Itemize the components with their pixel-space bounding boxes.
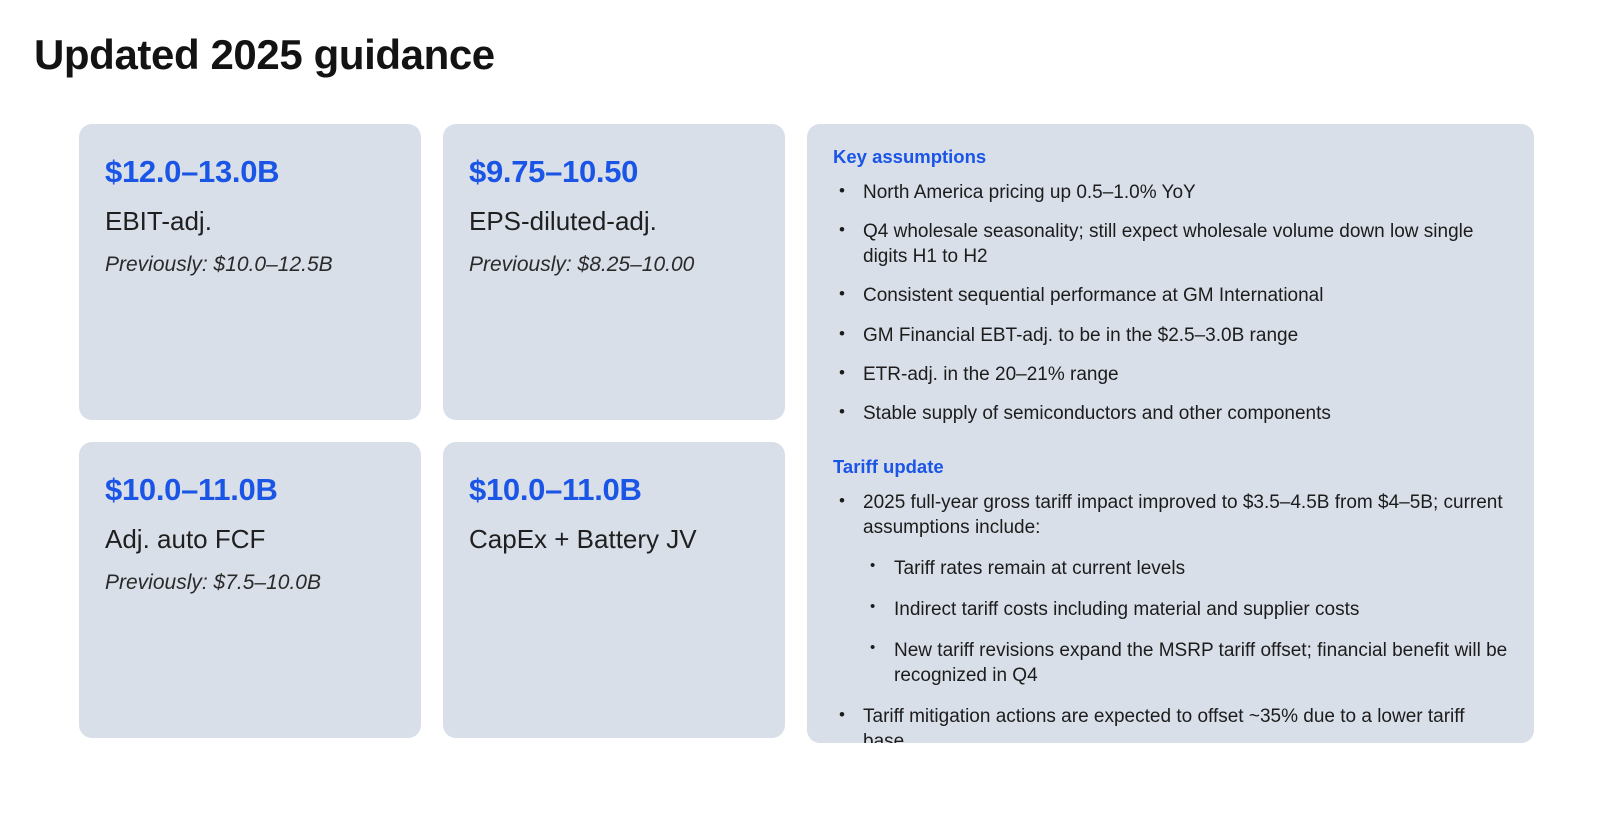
list-item: GM Financial EBT-adj. to be in the $2.5–…: [833, 323, 1508, 348]
tariff-update-list: 2025 full-year gross tariff impact impro…: [833, 490, 1508, 743]
list-item: Tariff mitigation actions are expected t…: [833, 704, 1508, 743]
list-item: Q4 wholesale seasonality; still expect w…: [833, 219, 1508, 269]
key-assumptions-heading: Key assumptions: [833, 146, 1508, 168]
notes-panel: Key assumptions North America pricing up…: [807, 124, 1534, 743]
metric-value: $12.0–13.0B: [105, 154, 395, 190]
tariff-update-heading: Tariff update: [833, 456, 1508, 478]
metric-card-ebit-adj: $12.0–13.0B EBIT-adj. Previously: $10.0–…: [79, 124, 421, 420]
list-item: 2025 full-year gross tariff impact impro…: [833, 490, 1508, 540]
metrics-grid: $12.0–13.0B EBIT-adj. Previously: $10.0–…: [79, 124, 785, 743]
metric-card-eps-diluted-adj: $9.75–10.50 EPS-diluted-adj. Previously:…: [443, 124, 785, 420]
content-area: $12.0–13.0B EBIT-adj. Previously: $10.0–…: [79, 124, 1534, 743]
list-item: North America pricing up 0.5–1.0% YoY: [833, 180, 1508, 205]
metric-label: EBIT-adj.: [105, 206, 395, 237]
page-title: Updated 2025 guidance: [34, 32, 495, 78]
list-item: ETR-adj. in the 20–21% range: [833, 362, 1508, 387]
metric-card-adj-auto-fcf: $10.0–11.0B Adj. auto FCF Previously: $7…: [79, 442, 421, 738]
metric-previous: Previously: $10.0–12.5B: [105, 252, 395, 278]
list-item-sub: New tariff revisions expand the MSRP tar…: [833, 638, 1508, 688]
metric-value: $9.75–10.50: [469, 154, 759, 190]
key-assumptions-list: North America pricing up 0.5–1.0% YoY Q4…: [833, 180, 1508, 426]
metric-card-capex-battery-jv: $10.0–11.0B CapEx + Battery JV: [443, 442, 785, 738]
metric-label: Adj. auto FCF: [105, 524, 395, 555]
metric-value: $10.0–11.0B: [105, 472, 395, 508]
list-item: Consistent sequential performance at GM …: [833, 283, 1508, 308]
metric-value: $10.0–11.0B: [469, 472, 759, 508]
metric-previous: Previously: $7.5–10.0B: [105, 570, 395, 596]
metric-label: EPS-diluted-adj.: [469, 206, 759, 237]
metric-previous: Previously: $8.25–10.00: [469, 252, 759, 278]
list-item: Stable supply of semiconductors and othe…: [833, 401, 1508, 426]
slide-root: Updated 2025 guidance $12.0–13.0B EBIT-a…: [0, 0, 1600, 834]
list-item-sub: Tariff rates remain at current levels: [833, 556, 1508, 581]
list-item-sub: Indirect tariff costs including material…: [833, 597, 1508, 622]
metric-label: CapEx + Battery JV: [469, 524, 759, 555]
